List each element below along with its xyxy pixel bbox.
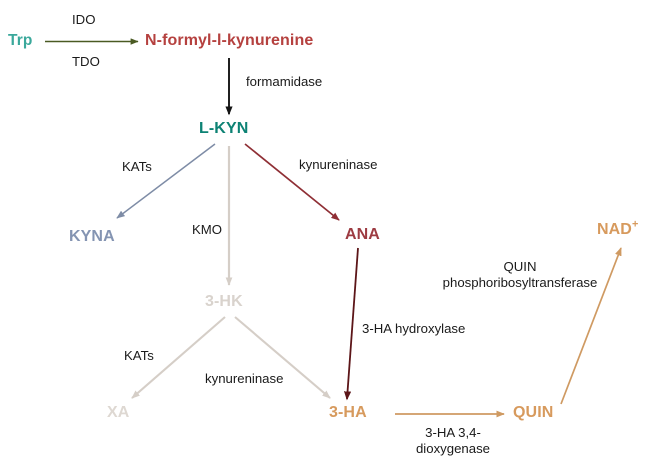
quin-prt-line-2: phosphoribosyltransferase: [414, 275, 626, 291]
node-kyna[interactable]: KYNA: [69, 229, 115, 245]
enzyme-label-kynureninase-upper: kynureninase: [299, 157, 377, 173]
node-n-formyl-l-kynurenine[interactable]: N-formyl-l-kynurenine: [145, 33, 313, 49]
node-quin[interactable]: QUIN: [513, 405, 553, 421]
pathway-diagram: Trp N-formyl-l-kynurenine L-KYN KYNA ANA…: [0, 0, 669, 468]
arrow-ana-to-3ha: [347, 248, 358, 399]
enzyme-label-formamidase: formamidase: [246, 74, 322, 90]
node-ana[interactable]: ANA: [345, 227, 380, 243]
enzyme-label-kats-lower: KATs: [124, 348, 154, 364]
dioxygenase-line-1: 3-HA 3,4-: [390, 425, 516, 441]
enzyme-label-ido: IDO: [72, 12, 95, 28]
node-nad-plus[interactable]: NAD+: [597, 222, 638, 238]
enzyme-label-3-ha-3-4-dioxygenase: 3-HA 3,4- dioxygenase: [390, 425, 516, 456]
node-3-ha[interactable]: 3-HA: [329, 405, 367, 421]
node-trp[interactable]: Trp: [8, 33, 32, 49]
enzyme-label-kmo: KMO: [192, 222, 222, 238]
node-nad-superscript: +: [632, 219, 638, 231]
dioxygenase-line-2: dioxygenase: [390, 441, 516, 457]
node-nad-label: NAD: [597, 221, 632, 238]
arrow-lkyn-to-ana: [245, 144, 339, 220]
enzyme-label-quin-phosphoribosyltransferase: QUIN phosphoribosyltransferase: [414, 259, 626, 290]
node-l-kyn[interactable]: L-KYN: [199, 121, 248, 137]
node-xa[interactable]: XA: [107, 405, 129, 421]
enzyme-label-kats-upper: KATs: [122, 159, 152, 175]
node-3-hk[interactable]: 3-HK: [205, 294, 243, 310]
enzyme-label-kynureninase-lower: kynureninase: [205, 371, 283, 387]
enzyme-label-3-ha-hydroxylase: 3-HA hydroxylase: [362, 321, 465, 337]
quin-prt-line-1: QUIN: [414, 259, 626, 275]
arrow-lkyn-to-kyna: [117, 144, 215, 218]
enzyme-label-tdo: TDO: [72, 54, 100, 70]
